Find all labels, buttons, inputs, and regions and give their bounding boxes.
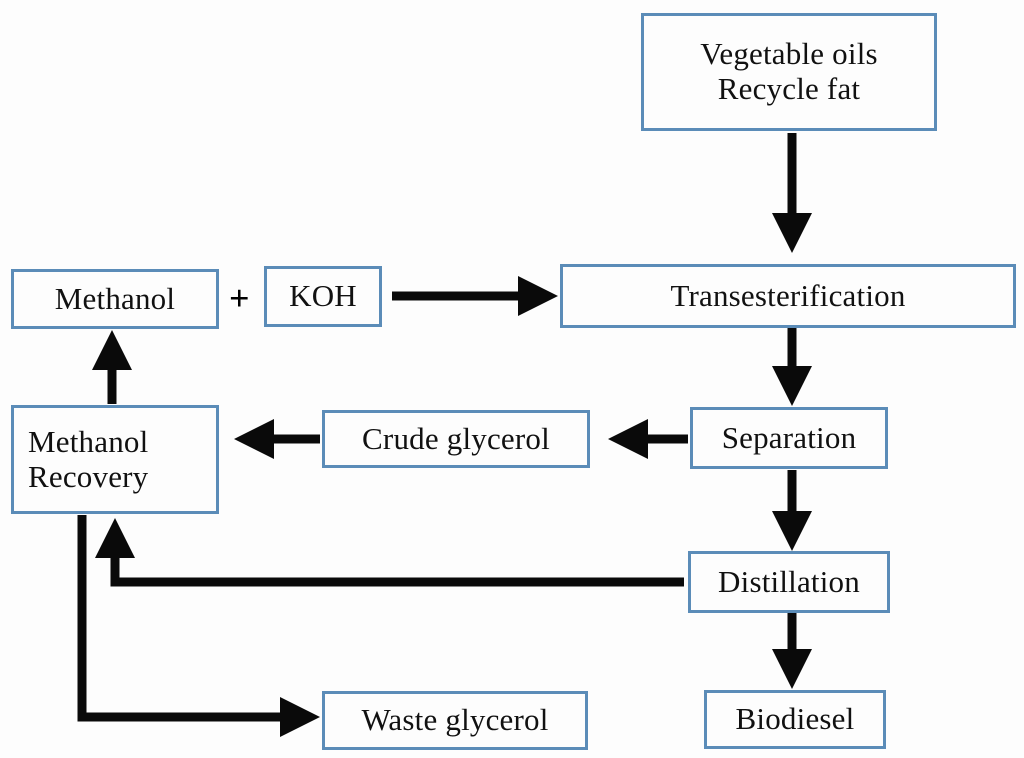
edge-feedstock-to-transesterification — [772, 133, 812, 253]
edge-methanol-recovery-to-methanol — [92, 330, 132, 404]
node-methanol-recovery: Methanol Recovery — [11, 405, 219, 514]
node-transesterification: Transesterification — [560, 264, 1016, 328]
edge-separation-to-crude-glycerol — [608, 419, 688, 459]
edge-crude-glycerol-to-methanol-recovery — [234, 419, 320, 459]
plus-operator: + — [229, 280, 250, 316]
node-biodiesel: Biodiesel — [704, 690, 886, 749]
node-methanol: Methanol — [11, 269, 219, 329]
edge-methanol-recovery-to-waste-glycerol — [82, 515, 320, 737]
node-crude-glycerol: Crude glycerol — [322, 410, 590, 468]
node-distillation: Distillation — [688, 551, 890, 613]
edge-transesterification-to-separation — [772, 328, 812, 406]
node-waste-glycerol: Waste glycerol — [322, 691, 588, 750]
node-separation: Separation — [690, 407, 888, 469]
edge-koh-to-transesterification — [392, 276, 558, 316]
edge-distillation-to-methanol-recovery — [95, 518, 684, 582]
edge-distillation-to-biodiesel — [772, 613, 812, 689]
node-koh: KOH — [264, 266, 382, 327]
flowchart-canvas: Vegetable oils Recycle fat Methanol + KO… — [0, 0, 1024, 758]
edge-separation-to-distillation — [772, 470, 812, 551]
node-feedstock: Vegetable oils Recycle fat — [641, 13, 937, 131]
